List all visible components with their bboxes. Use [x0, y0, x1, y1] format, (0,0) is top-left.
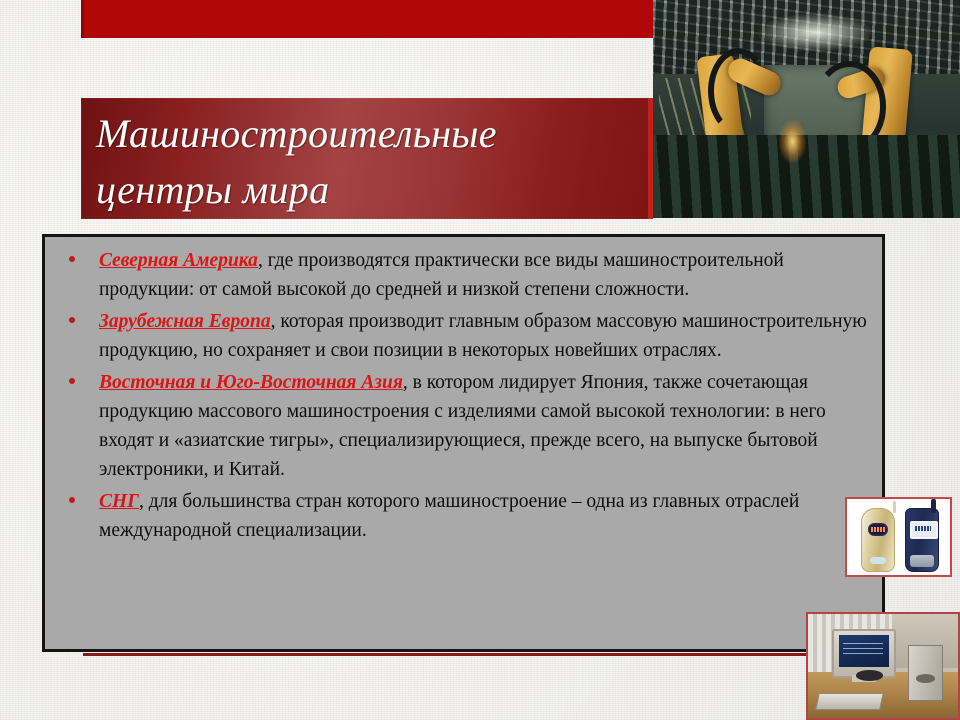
- title-banner: Машиностроительные центры мира: [81, 98, 653, 219]
- bullet-lead-term: СНГ: [99, 491, 139, 512]
- phone-keypad: [910, 555, 934, 567]
- monitor-screen: [839, 635, 889, 667]
- factory-machinery-base: [653, 135, 960, 218]
- list-item: Зарубежная Европа, которая производит гл…: [53, 307, 878, 365]
- phone-screen: [868, 523, 888, 536]
- factory-robots-image: [653, 0, 960, 218]
- slide-canvas: Машиностроительные центры мира Северная …: [0, 0, 960, 720]
- content-text-box: Северная Америка, где производятся практ…: [42, 234, 885, 652]
- phone-antenna-icon: [931, 499, 936, 513]
- top-red-banner-edge: [81, 0, 84, 38]
- bullet-lead-term: Зарубежная Европа: [99, 311, 271, 332]
- mouse-pad: [856, 670, 883, 680]
- bullet-dot-icon: [69, 378, 75, 384]
- keyboard: [815, 693, 884, 710]
- mobile-phones-image: [845, 497, 952, 577]
- bullet-dot-icon: [69, 317, 75, 323]
- phone-screen: [910, 521, 938, 539]
- robot-cable-left: [708, 48, 769, 134]
- bullet-list: Северная Америка, где производятся практ…: [53, 246, 878, 548]
- bullet-lead-term: Восточная и Юго-Восточная Азия: [99, 372, 403, 393]
- computer-tower: [908, 645, 943, 701]
- page-title: Машиностроительные центры мира: [96, 106, 641, 218]
- bullet-dot-icon: [69, 256, 75, 262]
- factory-ceiling-light: [757, 13, 874, 52]
- navy-bar-phone: [905, 508, 939, 572]
- phone-keypad: [870, 557, 886, 564]
- bullet-lead-term: Северная Америка: [99, 250, 258, 271]
- desktop-computer-image: [806, 612, 960, 720]
- phone-antenna-icon: [893, 501, 896, 513]
- content-box-underline: [83, 653, 845, 656]
- list-item: СНГ, для большинства стран которого маши…: [53, 487, 878, 545]
- list-item: Восточная и Юго-Восточная Азия, в которо…: [53, 368, 878, 484]
- gold-flip-phone: [861, 508, 895, 572]
- list-item: Северная Америка, где производятся практ…: [53, 246, 878, 304]
- welding-spark: [779, 120, 807, 164]
- bullet-body-text: , для большинства стран которого машинос…: [99, 491, 799, 541]
- bullet-dot-icon: [69, 497, 75, 503]
